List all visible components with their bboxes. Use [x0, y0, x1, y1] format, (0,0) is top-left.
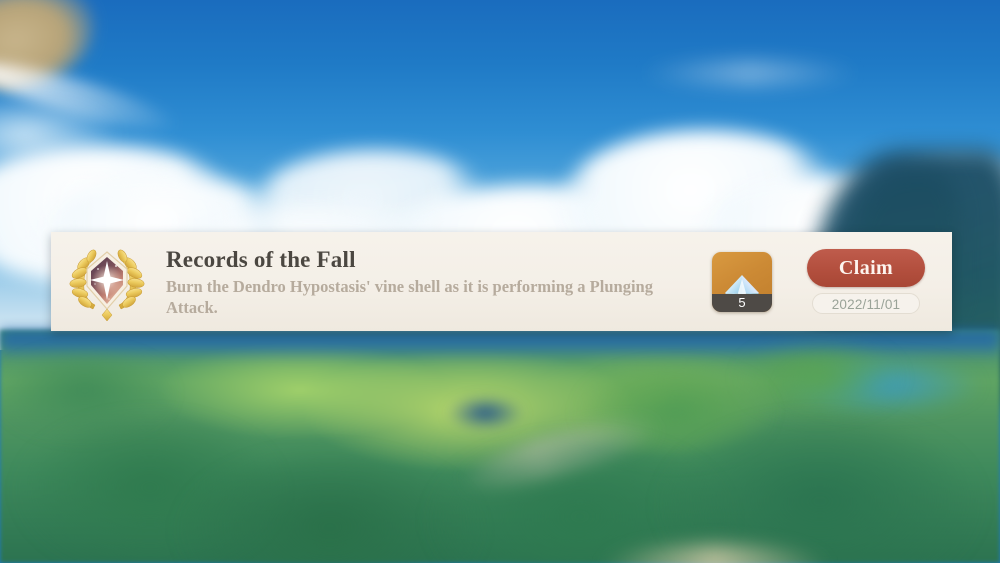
achievement-date: 2022/11/01 — [812, 293, 920, 314]
claim-button[interactable]: Claim — [807, 249, 925, 287]
achievement-laurel-star-icon — [64, 239, 150, 325]
game-screen: Records of the Fall Burn the Dendro Hypo… — [0, 0, 1000, 563]
reward-count: 5 — [712, 294, 772, 312]
water-body — [445, 395, 525, 431]
reward-primogem-tile[interactable]: 5 — [712, 252, 772, 312]
cloud-wisp — [640, 60, 860, 86]
achievement-description: Burn the Dendro Hypostasis' vine shell a… — [166, 276, 702, 318]
achievement-title: Records of the Fall — [166, 246, 702, 273]
water-body — [780, 355, 980, 415]
achievement-text-block: Records of the Fall Burn the Dendro Hypo… — [150, 246, 712, 318]
achievement-actions: Claim 2022/11/01 — [796, 249, 936, 314]
achievement-card[interactable]: Records of the Fall Burn the Dendro Hypo… — [51, 232, 952, 331]
